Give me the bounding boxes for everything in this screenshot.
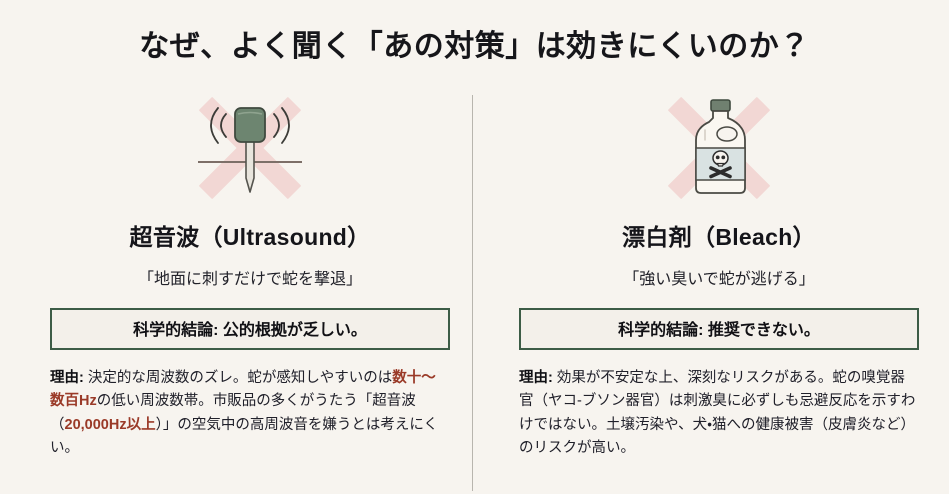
reason-lead-bleach: 理由: — [519, 370, 553, 386]
bleach-bottle-icon — [649, 92, 789, 202]
conclusion-box-bleach: 科学的結論: 推奨できない。 — [519, 308, 919, 350]
slide-root: { "slide": { "title": "なぜ、よく聞く「あの対策」は効きに… — [0, 0, 949, 494]
reason-text-ultrasound: 理由: 決定的な周波数のズレ。蛇が感知しやすいのは数十〜数百Hzの低い周波数帯。… — [50, 367, 450, 461]
icon-area-bleach — [519, 92, 919, 202]
reason-text-bleach: 理由: 効果が不安定な上、深刻なリスクがある。蛇の嗅覚器官（ヤコ-ブソン器官）は… — [519, 367, 919, 461]
ultrasonic-stake-icon — [180, 92, 320, 202]
device-claim-ultrasound: 「地面に刺すだけで蛇を撃退」 — [50, 265, 450, 289]
reason-lead-ultrasound: 理由: — [50, 370, 84, 386]
panel-ultrasound: 超音波（Ultrasound） 「地面に刺すだけで蛇を撃退」 科学的結論: 公的… — [50, 92, 450, 461]
conclusion-box-ultrasound: 科学的結論: 公的根拠が乏しい。 — [50, 308, 450, 350]
highlighted-term: 20,000Hz以上 — [65, 417, 156, 433]
icon-area-ultrasound — [50, 92, 450, 202]
panel-bleach: 漂白剤（Bleach） 「強い臭いで蛇が逃げる」 科学的結論: 推奨できない。 … — [519, 92, 919, 461]
device-title-bleach: 漂白剤（Bleach） — [519, 218, 919, 252]
reason-fragment: 効果が不安定な上、深刻なリスクがある。蛇の嗅覚器官（ヤコ-ブソン器官）は刺激臭に… — [519, 370, 915, 456]
reason-fragment: 決定的な周波数のズレ。蛇が感知しやすいのは — [84, 370, 392, 386]
column-divider — [472, 95, 473, 491]
device-claim-bleach: 「強い臭いで蛇が逃げる」 — [519, 265, 919, 289]
reason-body-ultrasound: 決定的な周波数のズレ。蛇が感知しやすいのは数十〜数百Hzの低い周波数帯。市販品の… — [50, 370, 438, 456]
page-title: なぜ、よく聞く「あの対策」は効きにくいのか？ — [0, 21, 949, 65]
device-title-ultrasound: 超音波（Ultrasound） — [50, 218, 450, 252]
reason-body-bleach: 効果が不安定な上、深刻なリスクがある。蛇の嗅覚器官（ヤコ-ブソン器官）は刺激臭に… — [519, 370, 915, 456]
